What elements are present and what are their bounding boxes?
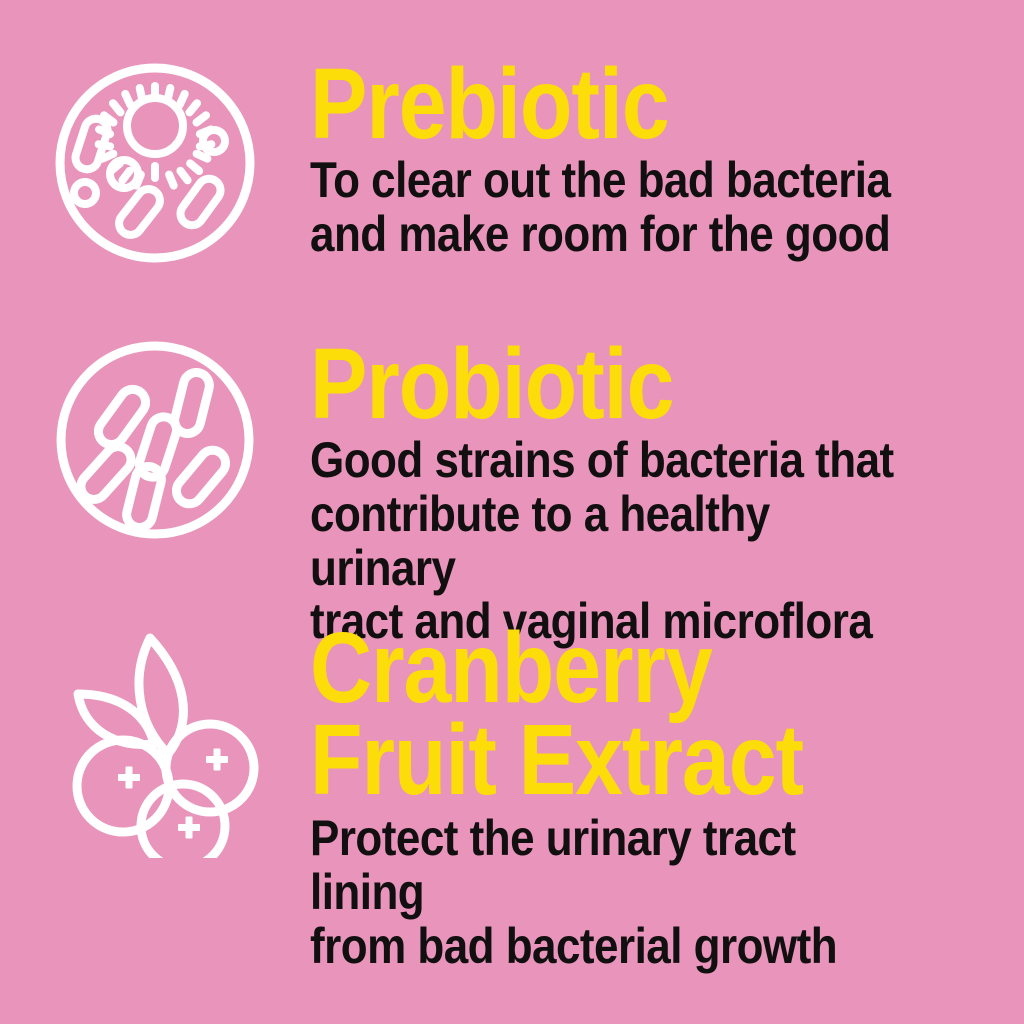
benefit-title-prebiotic: Prebiotic bbox=[310, 58, 893, 150]
cranberry-text-cell: Cranberry Fruit Extract Protect the urin… bbox=[310, 622, 1024, 973]
petri-dish-prebiotic-icon bbox=[50, 58, 260, 268]
benefit-description-cranberry: Protect the urinary tract lining from ba… bbox=[310, 812, 907, 973]
benefit-description-prebiotic: To clear out the bad bacteria and make r… bbox=[310, 154, 907, 262]
benefit-title-probiotic: Probiotic bbox=[310, 338, 893, 430]
benefit-row-probiotic: Probiotic Good strains of bacteria that … bbox=[0, 338, 1024, 649]
cranberry-icon-cell bbox=[0, 622, 310, 858]
probiotic-icon-cell bbox=[0, 338, 310, 542]
petri-dish-probiotic-icon bbox=[53, 338, 257, 542]
benefits-infographic: Prebiotic To clear out the bad bacteria … bbox=[0, 0, 1024, 1024]
cranberry-icon bbox=[50, 628, 260, 858]
probiotic-text-cell: Probiotic Good strains of bacteria that … bbox=[310, 338, 1024, 649]
prebiotic-text-cell: Prebiotic To clear out the bad bacteria … bbox=[310, 58, 1024, 262]
benefit-row-cranberry: Cranberry Fruit Extract Protect the urin… bbox=[0, 622, 1024, 973]
benefit-title-cranberry: Cranberry Fruit Extract bbox=[310, 622, 893, 806]
benefit-row-prebiotic: Prebiotic To clear out the bad bacteria … bbox=[0, 58, 1024, 268]
prebiotic-icon-cell bbox=[0, 58, 310, 268]
